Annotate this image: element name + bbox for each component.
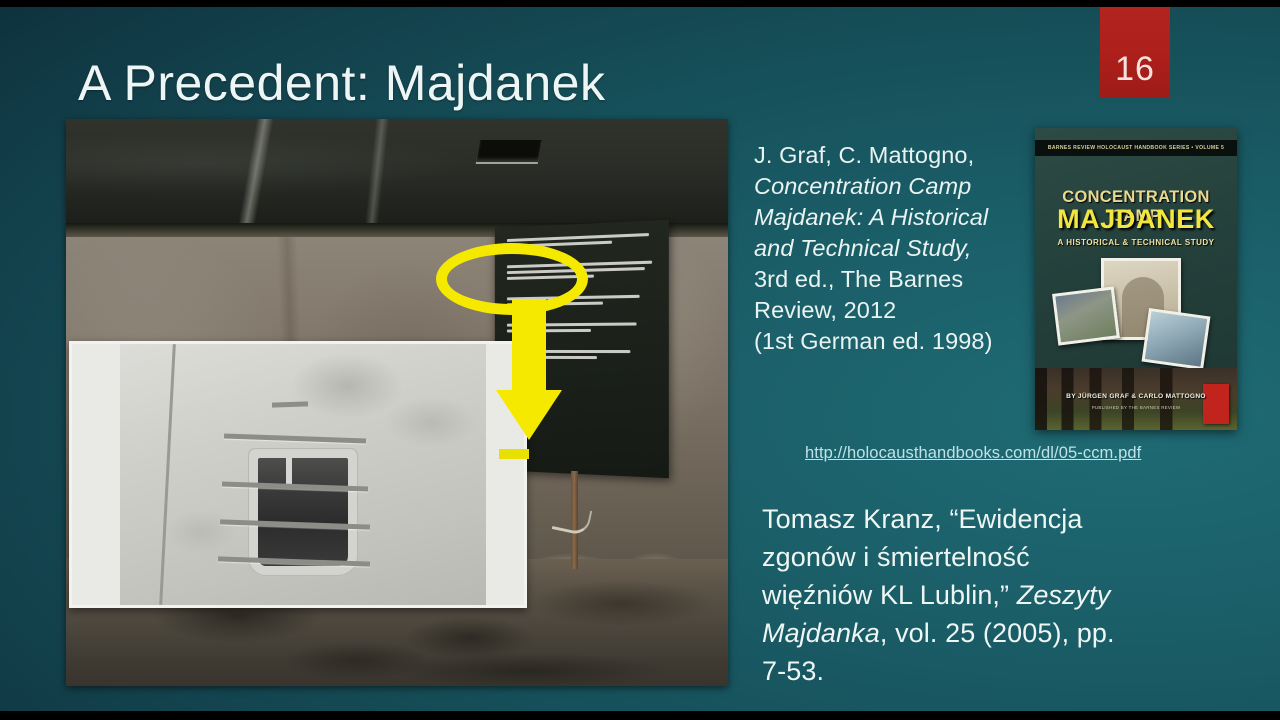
citation-line: Zeszyty bbox=[1017, 580, 1111, 610]
citation-line: J. Graf, C. Mattogno, bbox=[754, 142, 974, 168]
citation-line: Majdanek: A Historical bbox=[754, 204, 988, 230]
citation-line: więźniów KL Lublin,” bbox=[762, 580, 1017, 610]
page-number-badge: 16 bbox=[1100, 7, 1170, 97]
citation-line: , vol. 25 (2005), pp. bbox=[880, 618, 1115, 648]
book-publisher: PUBLISHED BY THE BARNES REVIEW bbox=[1035, 405, 1237, 410]
book-title-main: MAJDANEK bbox=[1035, 204, 1237, 235]
presentation-slide: 16 A Precedent: Majdanek bbox=[0, 0, 1280, 720]
main-photograph bbox=[66, 119, 728, 686]
citation-line: Majdanka bbox=[762, 618, 880, 648]
citation-line: and Technical Study, bbox=[754, 235, 972, 261]
citation-line: Concentration Camp bbox=[754, 173, 971, 199]
citation-line: zgonów i śmiertelność bbox=[762, 542, 1030, 572]
collage-photo-wall bbox=[1052, 286, 1120, 345]
page-number-label: 16 bbox=[1115, 50, 1155, 89]
citation-kranz: Tomasz Kranz, “Ewidencja zgonów i śmiert… bbox=[762, 500, 1232, 690]
book-series-label: BARNES REVIEW HOLOCAUST HANDBOOK SERIES … bbox=[1048, 145, 1224, 151]
book-cover-image: BARNES REVIEW HOLOCAUST HANDBOOK SERIES … bbox=[1035, 128, 1237, 430]
ceiling-opening bbox=[476, 140, 542, 162]
citation-line: 3rd ed., The Barnes bbox=[754, 266, 963, 292]
yellow-marker-bar bbox=[499, 449, 529, 459]
downward-arrow-annotation bbox=[496, 299, 562, 440]
citation-graf-mattogno: J. Graf, C. Mattogno, Concentration Camp… bbox=[754, 140, 1024, 357]
book-series-banner: BARNES REVIEW HOLOCAUST HANDBOOK SERIES … bbox=[1035, 140, 1237, 156]
citation-line: Tomasz Kranz, “Ewidencja bbox=[762, 504, 1083, 534]
inset-photograph bbox=[69, 341, 527, 608]
book-red-accent bbox=[1203, 384, 1229, 424]
book-authors: BY JÜRGEN GRAF & CARLO MATTOGNO bbox=[1035, 393, 1237, 400]
source-url-link[interactable]: http://holocausthandbooks.com/dl/05-ccm.… bbox=[805, 444, 1141, 463]
letterbox-bar-bottom bbox=[0, 711, 1280, 720]
collage-photo-xray bbox=[1142, 308, 1211, 370]
barred-opening bbox=[258, 458, 348, 566]
page-title: A Precedent: Majdanek bbox=[78, 54, 606, 112]
citation-line: (1st German ed. 1998) bbox=[754, 328, 993, 354]
letterbox-bar-top bbox=[0, 0, 1280, 7]
ceiling-surface bbox=[66, 119, 728, 229]
citation-line: Review, 2012 bbox=[754, 297, 896, 323]
book-subtitle: A HISTORICAL & TECHNICAL STUDY bbox=[1035, 238, 1237, 247]
book-photo-collage bbox=[1035, 256, 1237, 386]
ceiling-opening-highlight-ellipse bbox=[436, 243, 588, 315]
citation-line: 7-53. bbox=[762, 656, 824, 686]
